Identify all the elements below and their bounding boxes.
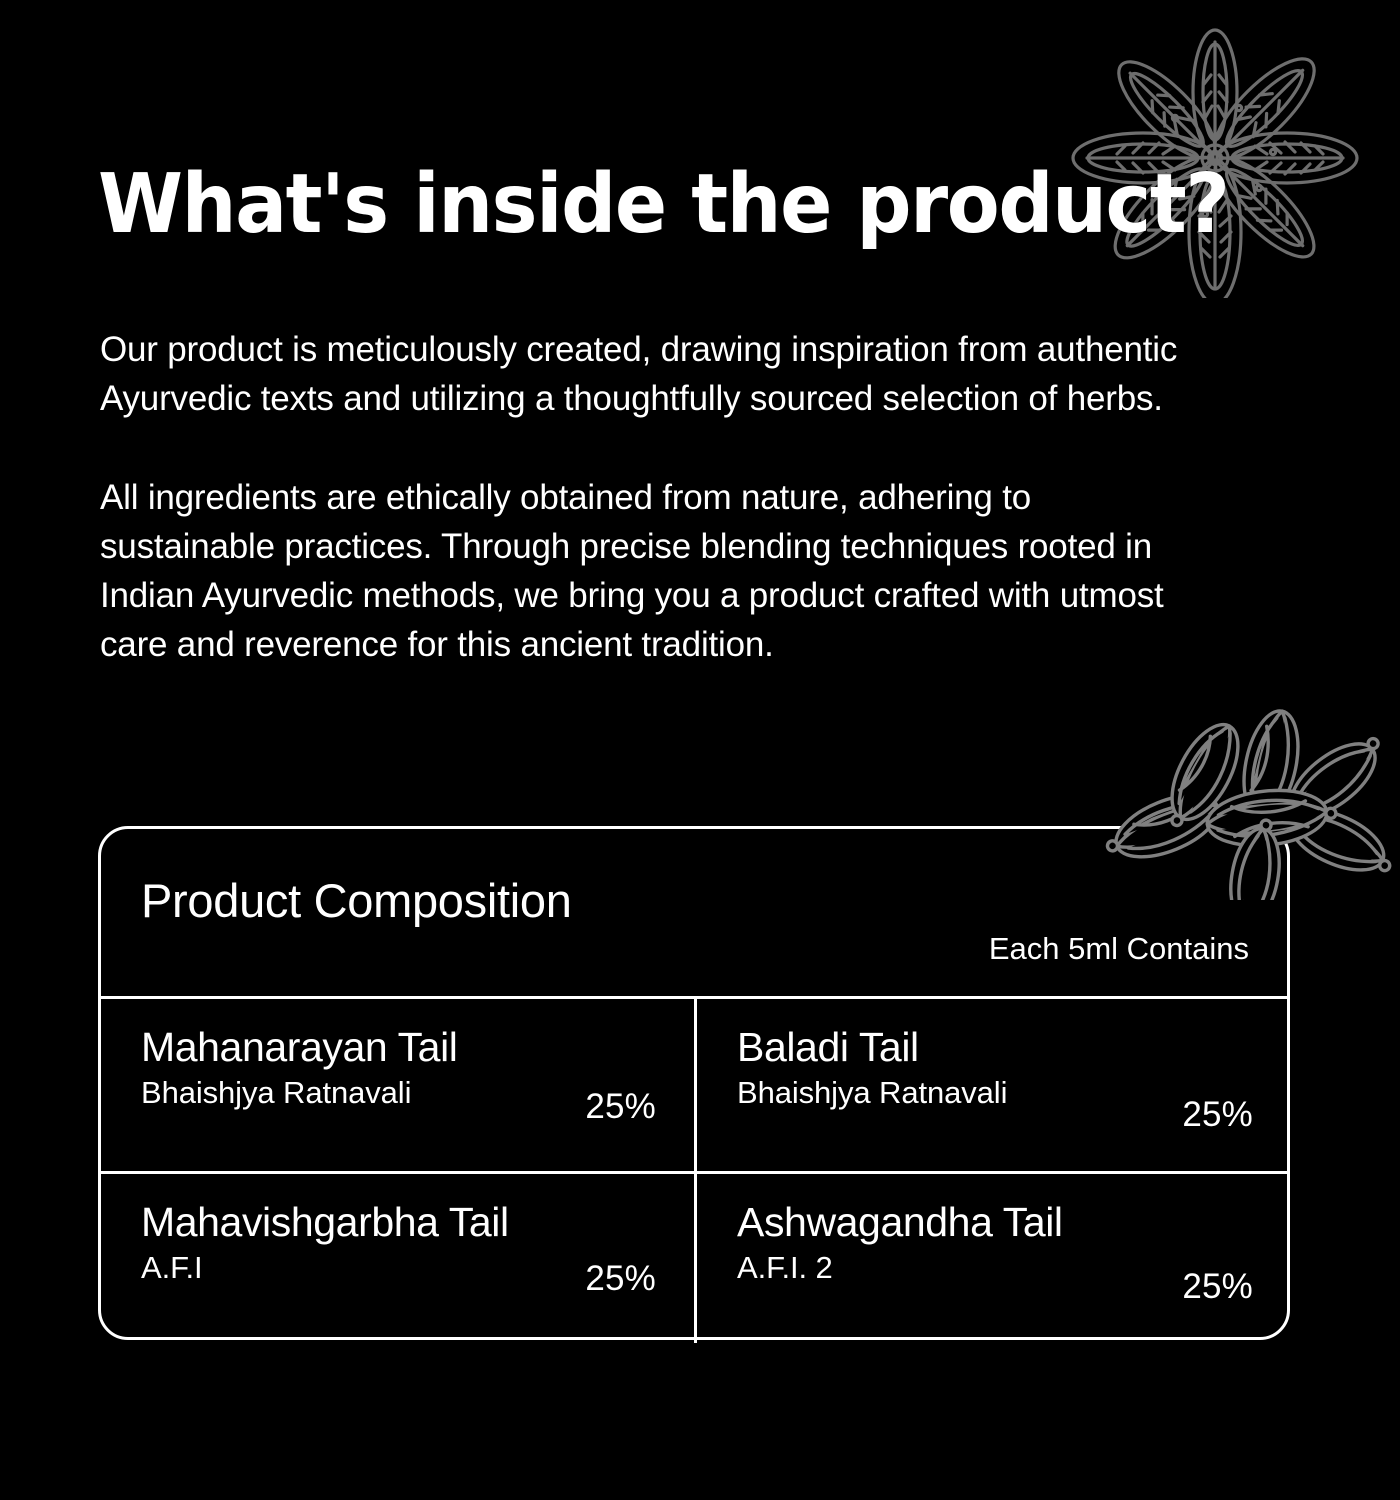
table-row: Mahavishgarbha Tail A.F.I 25% Ashwagandh… xyxy=(101,1171,1287,1343)
product-composition-card: Product Composition Each 5ml Contains Ma… xyxy=(98,826,1290,1340)
intro-copy: Our product is meticulously created, dra… xyxy=(100,325,1210,669)
ingredient-percent: 25% xyxy=(585,1259,656,1299)
ingredient-name: Mahavishgarbha Tail xyxy=(141,1200,694,1246)
ingredient-name: Ashwagandha Tail xyxy=(737,1200,1287,1246)
composition-cell: Mahavishgarbha Tail A.F.I 25% xyxy=(101,1174,694,1343)
ingredient-name: Baladi Tail xyxy=(737,1025,1287,1071)
ingredient-name: Mahanarayan Tail xyxy=(141,1025,694,1071)
ingredient-percent: 25% xyxy=(1182,1095,1253,1135)
each-contains-label: Each 5ml Contains xyxy=(989,931,1249,967)
composition-card-header: Product Composition Each 5ml Contains xyxy=(101,829,1287,996)
composition-title: Product Composition xyxy=(141,873,572,928)
star-anise-icon xyxy=(1055,8,1400,298)
intro-paragraph-1: Our product is meticulously created, dra… xyxy=(100,325,1210,423)
ingredient-percent: 25% xyxy=(585,1087,656,1127)
composition-cell: Ashwagandha Tail A.F.I. 2 25% xyxy=(694,1174,1287,1343)
intro-paragraph-2: All ingredients are ethically obtained f… xyxy=(100,473,1210,669)
composition-rows: Mahanarayan Tail Bhaishjya Ratnavali 25%… xyxy=(101,996,1287,1343)
page-title: What's inside the product? xyxy=(98,164,1229,246)
table-row: Mahanarayan Tail Bhaishjya Ratnavali 25%… xyxy=(101,999,1287,1171)
composition-cell: Mahanarayan Tail Bhaishjya Ratnavali 25% xyxy=(101,999,694,1171)
composition-cell: Baladi Tail Bhaishjya Ratnavali 25% xyxy=(694,999,1287,1171)
ingredient-percent: 25% xyxy=(1182,1267,1253,1307)
